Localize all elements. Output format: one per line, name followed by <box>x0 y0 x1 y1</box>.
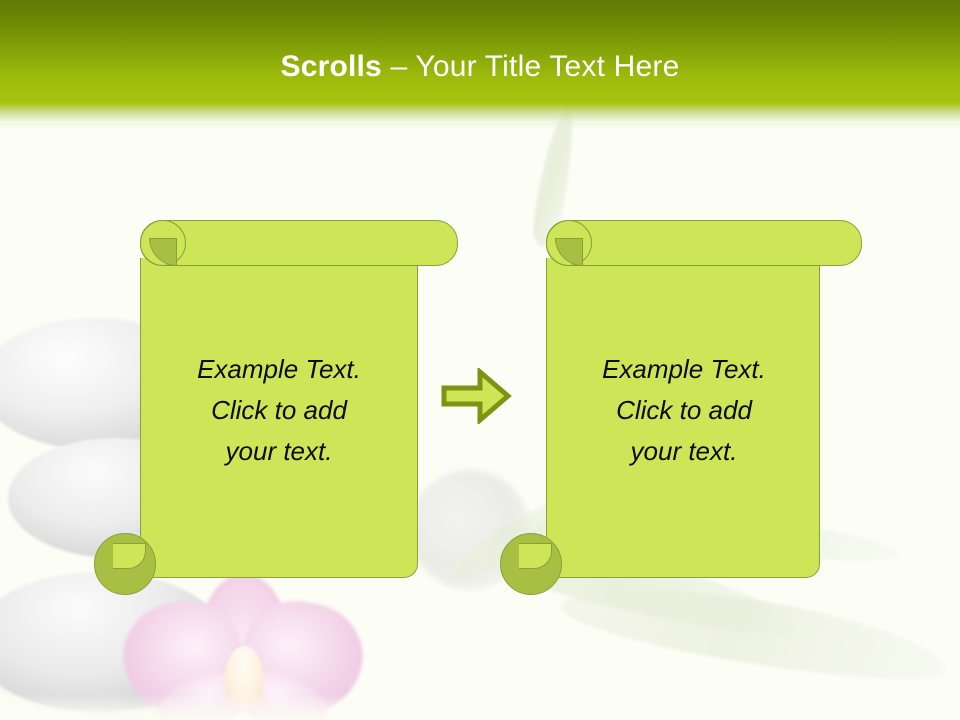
slide-bottom-fade <box>0 694 960 720</box>
title-banner-fade <box>0 103 960 131</box>
right-arrow-icon <box>440 368 512 424</box>
orchid-petal-top <box>202 574 286 666</box>
stone-bottom <box>0 572 226 712</box>
page-title-rest: Your Title Text Here <box>415 50 679 83</box>
left-scroll-top-roll <box>140 220 458 266</box>
right-scroll-text[interactable]: Example Text. Click to add your text. <box>558 349 810 472</box>
left-scroll-text[interactable]: Example Text. Click to add your text. <box>152 349 406 472</box>
slide-canvas: Scrolls – Your Title Text Here Example T… <box>0 0 960 720</box>
page-title-bold: Scrolls <box>280 50 381 83</box>
page-title: Scrolls – Your Title Text Here <box>0 50 960 84</box>
bamboo-leaf-bottom <box>557 567 952 698</box>
right-scroll-top-roll <box>546 220 862 266</box>
page-title-separator: – <box>382 50 415 83</box>
